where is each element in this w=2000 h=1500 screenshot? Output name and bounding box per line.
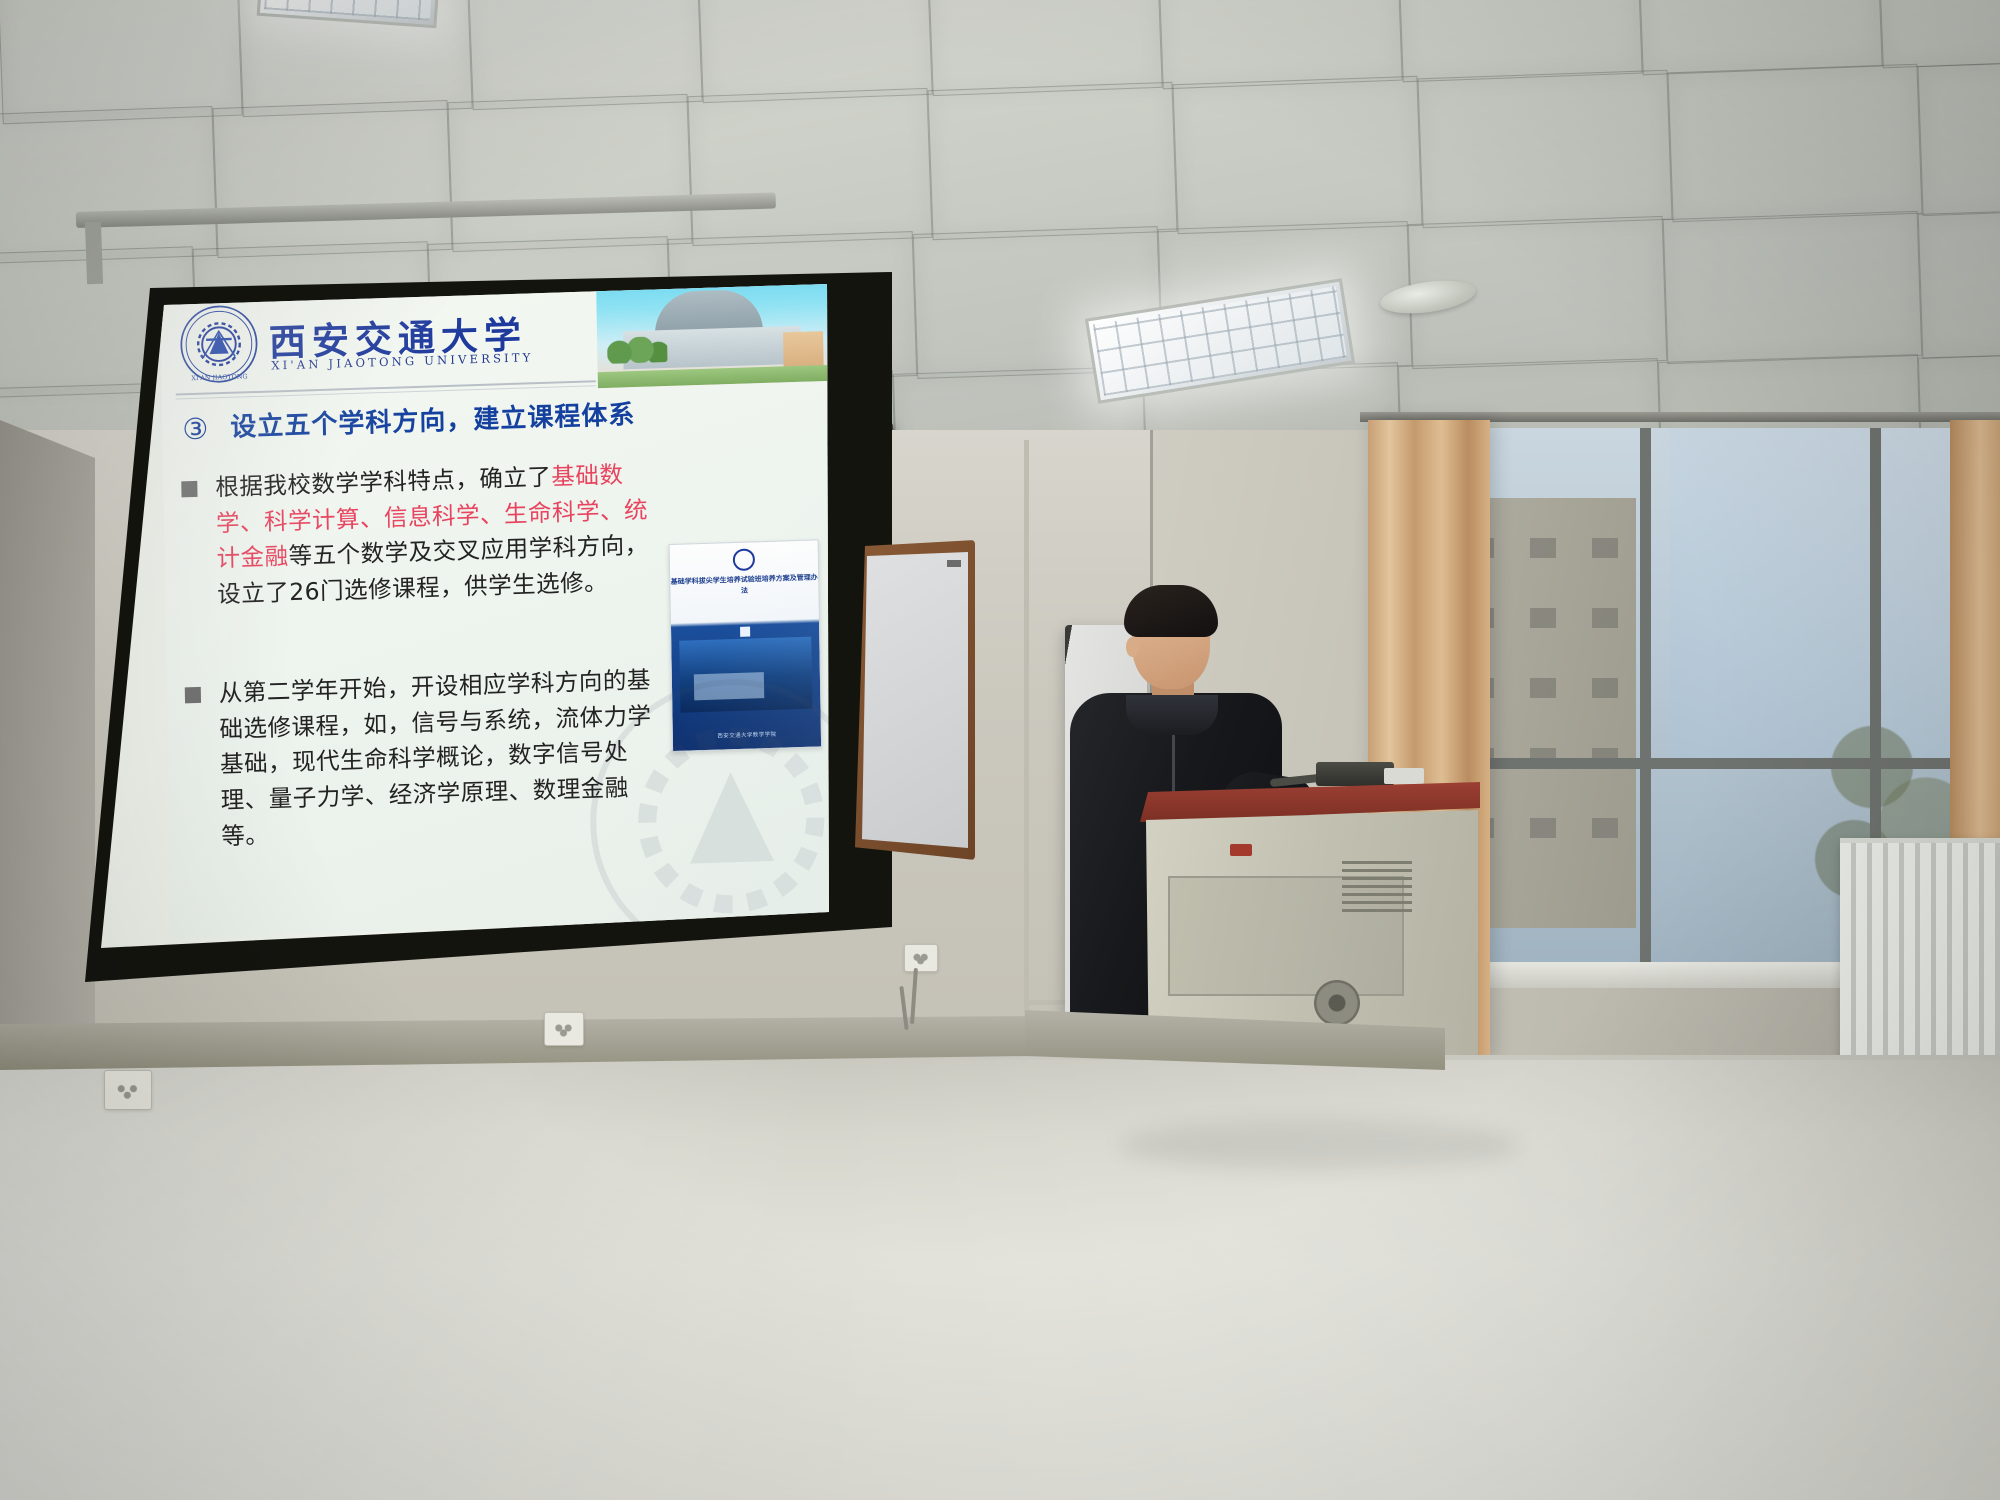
- ceiling-tile: [1663, 211, 1923, 364]
- whiteboard-tag: [947, 560, 961, 567]
- ceiling-tile: [212, 100, 452, 258]
- outlet-holes-icon-right: [911, 951, 931, 965]
- ceiling-tile: [1157, 0, 1402, 89]
- outlet-holes-icon-center: [551, 1019, 577, 1039]
- floor-reflection: [0, 1060, 2000, 1500]
- wall-outlet-left[interactable]: [104, 1070, 152, 1110]
- projection-screen[interactable]: XI'AN JIAOTONG 西安交通大学 XI'AN JIAOTONG UNI…: [72, 272, 892, 982]
- run-normal-1: 根据我校数学学科特点，确立了: [215, 463, 551, 502]
- presenter-collar: [1126, 695, 1218, 735]
- projected-slide: XI'AN JIAOTONG 西安交通大学 XI'AN JIAOTONG UNI…: [160, 272, 843, 938]
- window-mullion-1: [1640, 428, 1651, 988]
- slide-heading-text: 设立五个学科方向，建立课程体系: [230, 401, 636, 442]
- wall-outlet-center[interactable]: [544, 1012, 584, 1046]
- whiteboard[interactable]: [855, 540, 975, 860]
- podium-vents: [1342, 860, 1412, 912]
- slide-bullet-1-text: 根据我校数学学科特点，确立了基础数学、科学计算、信息科学、生命科学、统计金融等五…: [215, 456, 669, 613]
- bullet-square-icon-2: [185, 687, 201, 704]
- ceiling-tile: [687, 88, 932, 246]
- ceiling-tile: [1397, 0, 1642, 82]
- ceiling-tile: [1417, 70, 1672, 229]
- poster-accent-dot: [740, 627, 750, 637]
- podium-control-panel[interactable]: [1384, 768, 1424, 784]
- bullet-square-icon: [181, 481, 197, 498]
- ceiling-tile: [1917, 58, 2000, 216]
- podium-badge: [1230, 844, 1252, 856]
- presenter-ear: [1126, 637, 1139, 657]
- whiteboard-surface: [862, 552, 968, 848]
- slide-body: ③ 设立五个学科方向，建立课程体系 根据我校数学学科特点，确立了基础数学、科学计…: [162, 389, 843, 938]
- poster-logo-icon: [733, 548, 755, 571]
- presenter-hair: [1124, 585, 1218, 637]
- slide-section-number: ③: [182, 415, 208, 445]
- ceiling-tile: [447, 94, 692, 252]
- screen-surface: XI'AN JIAOTONG 西安交通大学 XI'AN JIAOTONG UNI…: [72, 272, 892, 982]
- lecture-hall-scene: MITSUBISHI: [0, 0, 2000, 1500]
- svg-text:XI'AN JIAOTONG: XI'AN JIAOTONG: [191, 372, 247, 382]
- podium-control-unit[interactable]: [1316, 762, 1394, 786]
- xjtu-seal-logo: XI'AN JIAOTONG: [178, 303, 259, 386]
- podium-shadow: [1120, 1120, 1520, 1170]
- slide-watermark-seal: [579, 666, 843, 938]
- ceiling-tile: [927, 82, 1177, 240]
- wall-conduit: [1024, 440, 1029, 1040]
- ceiling-tile: [697, 0, 932, 103]
- podium-speaker-icon: [1314, 980, 1360, 1026]
- wall-outlet-right[interactable]: [904, 944, 938, 972]
- ceiling-tile: [927, 0, 1162, 96]
- ceiling-tile: [1877, 0, 2000, 68]
- outlet-holes-icon: [111, 1077, 145, 1103]
- ceiling-tile: [1172, 76, 1422, 234]
- slide-bullet-1: 根据我校数学学科特点，确立了基础数学、科学计算、信息科学、生命科学、统计金融等五…: [181, 456, 669, 614]
- ceiling-tile: [1667, 64, 1922, 223]
- window-transom: [1400, 758, 2000, 769]
- light-diffuser-grid-far: [264, 0, 432, 21]
- ceiling-tile: [0, 106, 218, 264]
- slide-heading-row: ③ 设立五个学科方向，建立课程体系: [182, 395, 822, 444]
- ceiling-tile: [1918, 206, 2000, 359]
- poster-title: 基础学科拔尖学生培养试验班培养方案及管理办法: [670, 572, 818, 598]
- campus-trees: [607, 336, 667, 364]
- ceiling-tile: [1637, 0, 1882, 75]
